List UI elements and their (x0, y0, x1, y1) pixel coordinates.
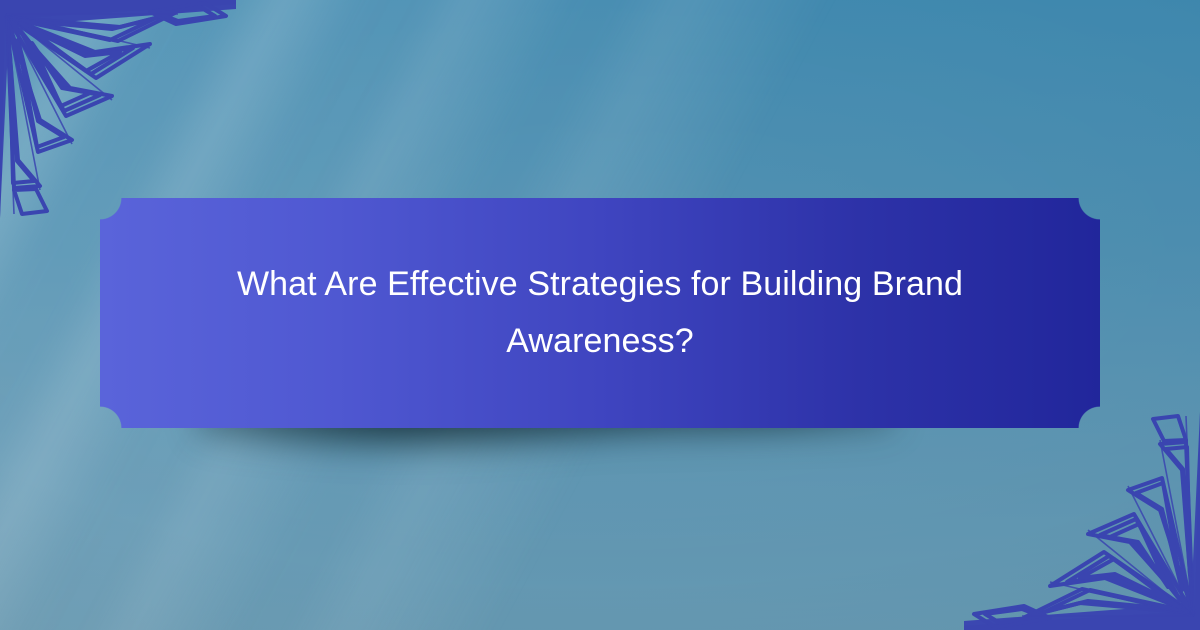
page-title: What Are Effective Strategies for Buildi… (210, 256, 990, 370)
share-card-canvas: What Are Effective Strategies for Buildi… (0, 0, 1200, 630)
title-card: What Are Effective Strategies for Buildi… (100, 198, 1100, 428)
